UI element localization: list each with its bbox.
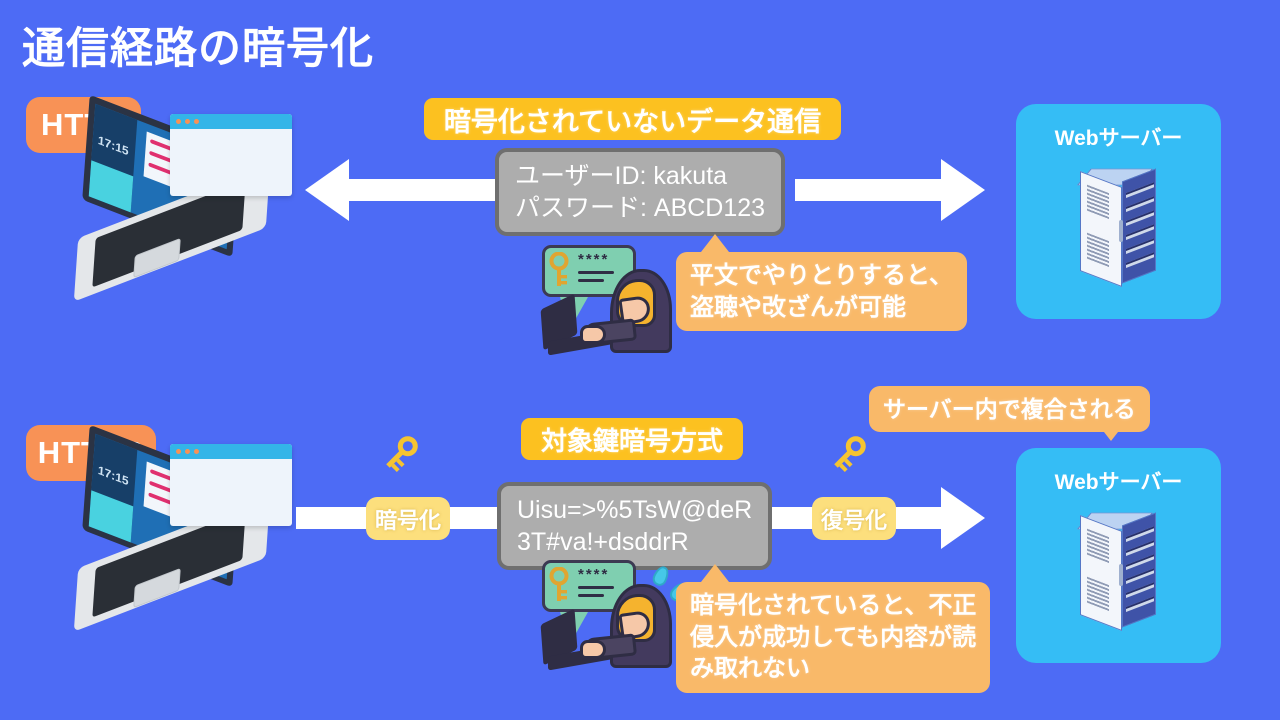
server-rack-icon: [1078, 162, 1162, 290]
arrow-head-to-server-https: [941, 487, 985, 549]
badge-encrypt: 暗号化: [366, 497, 450, 540]
client-laptop-http: 17:15: [68, 110, 283, 285]
window-dot-icon: [176, 119, 181, 124]
key-icon: [548, 567, 570, 603]
callout-tail-cipher-safe: [701, 564, 729, 582]
callout-tail-server-decrypt: [1097, 423, 1125, 441]
client-laptop-https: 17:15: [68, 440, 283, 615]
arrow-bar-right-http: [795, 179, 947, 201]
key-icon: [548, 252, 570, 288]
data-box-plaintext: ユーザーID: kakuta パスワード: ABCD123: [495, 148, 785, 236]
attacker-bubble-asterisks: ****: [578, 566, 609, 583]
callout-line: 侵入が成功しても内容が読: [690, 622, 976, 654]
browser-window-popup: [170, 444, 292, 526]
window-dot-icon: [185, 449, 190, 454]
callout-plaintext-risk: 平文でやりとりすると、 盗聴や改ざんが可能: [676, 252, 967, 331]
data-line-userid: ユーザーID: kakuta: [515, 160, 765, 192]
page-title: 通信経路の暗号化: [22, 14, 374, 76]
cipher-line-2: 3T#va!+dsddrR: [517, 526, 752, 558]
arrow-head-to-client-http: [305, 159, 349, 221]
badge-decrypt: 復号化: [812, 497, 896, 540]
attacker-bubble-asterisks: ****: [578, 251, 609, 268]
callout-line: 平文でやりとりすると、: [690, 260, 953, 292]
callout-encrypted-safe: 暗号化されていると、不正 侵入が成功しても内容が読 み取れない: [676, 582, 990, 693]
server-label-http: Webサーバー: [1016, 122, 1221, 152]
key-icon-decrypt: [826, 432, 870, 476]
arrow-head-to-server-http: [941, 159, 985, 221]
window-dot-icon: [176, 449, 181, 454]
attacker-figure-https: ****: [536, 560, 686, 670]
callout-line: み取れない: [690, 653, 976, 685]
window-dot-icon: [194, 449, 199, 454]
window-dot-icon: [185, 119, 190, 124]
attacker-hand: [580, 325, 606, 344]
server-card-http: Webサーバー: [1016, 104, 1221, 319]
sweat-drop-icon: [650, 564, 671, 588]
attacker-figure-http: ****: [536, 245, 686, 355]
server-card-https: Webサーバー: [1016, 448, 1221, 663]
cipher-line-1: Uisu=>%5TsW@deR: [517, 494, 752, 526]
browser-window-popup: [170, 114, 292, 196]
data-box-ciphertext: Uisu=>%5TsW@deR 3T#va!+dsddrR: [497, 482, 772, 570]
banner-unencrypted-communication: 暗号化されていないデータ通信: [424, 98, 841, 140]
window-dot-icon: [194, 119, 199, 124]
attacker-hand: [580, 640, 606, 659]
callout-line: 盗聴や改ざんが可能: [690, 292, 953, 324]
callout-tail-plaintext: [701, 234, 729, 252]
key-icon-encrypt: [378, 432, 422, 476]
server-label-https: Webサーバー: [1016, 466, 1221, 496]
callout-line: 暗号化されていると、不正: [690, 590, 976, 622]
arrow-bar-left-http: [347, 179, 509, 201]
banner-symmetric-key-encryption: 対象鍵暗号方式: [521, 418, 743, 460]
slide-canvas: 通信経路の暗号化 HTTP 17:15: [0, 0, 1280, 720]
server-rack-icon: [1078, 506, 1162, 634]
data-line-password: パスワード: ABCD123: [515, 192, 765, 224]
